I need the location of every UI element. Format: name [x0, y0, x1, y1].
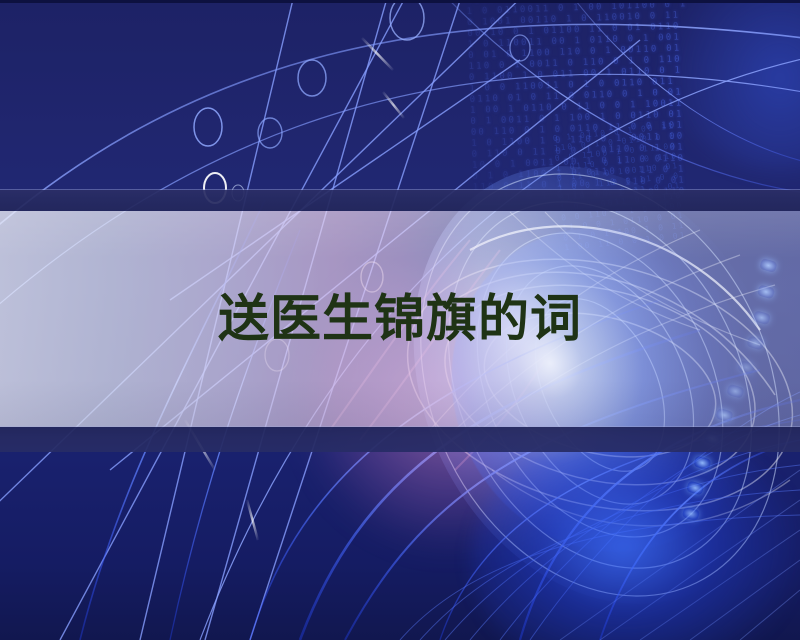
cover-image-canvas: 0110 0 1 0011 00 1 0 0100110 1 0 0110011… — [0, 0, 800, 640]
orb-light-dot — [686, 481, 704, 496]
band-top-rule — [0, 190, 800, 211]
orb-light-dot — [694, 456, 712, 471]
top-edge-line — [0, 0, 800, 3]
page-title: 送医生锦旗的词 — [218, 294, 582, 345]
title-container: 送医生锦旗的词 — [0, 211, 800, 427]
band-bottom-rule — [0, 427, 800, 452]
orb-light-dot — [681, 506, 699, 521]
